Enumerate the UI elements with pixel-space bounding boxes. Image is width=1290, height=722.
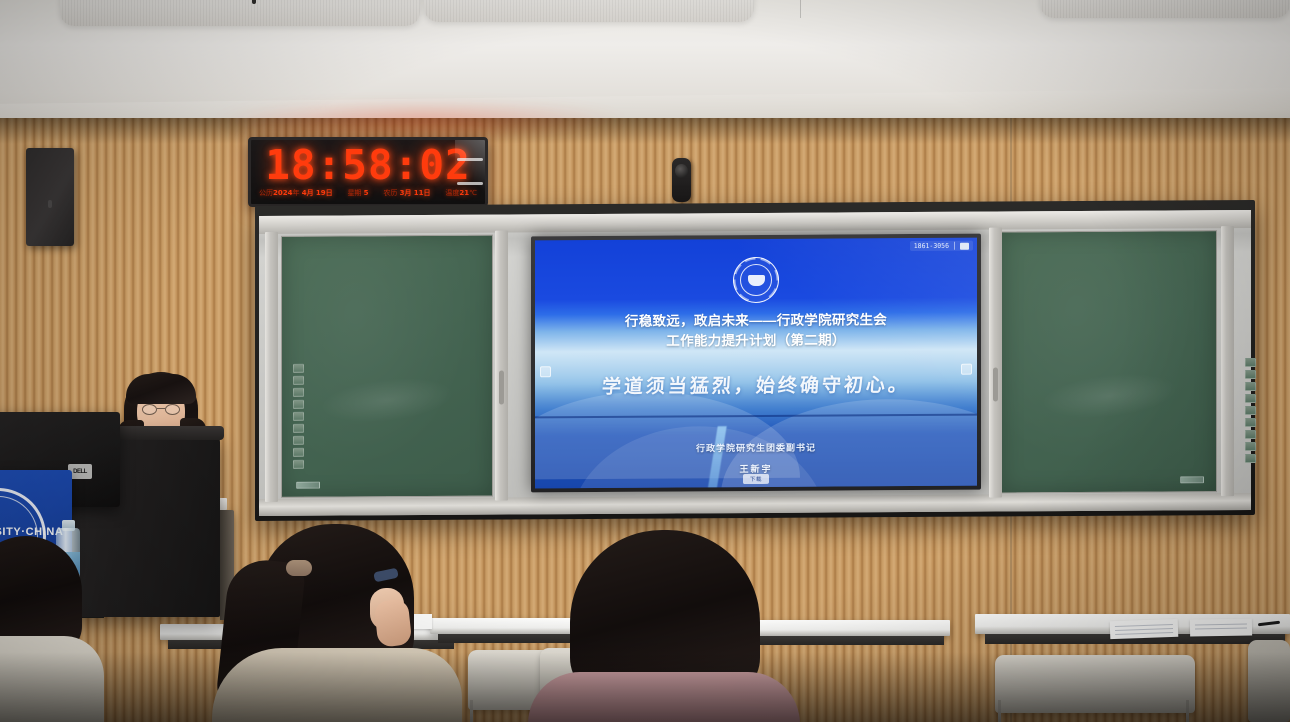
clock-reflection-bar <box>457 182 483 185</box>
board-tag <box>1180 476 1204 483</box>
control-icon-down[interactable] <box>293 436 304 445</box>
speaker-led <box>48 200 52 208</box>
control-icon-menu[interactable] <box>1245 370 1256 379</box>
control-icon-play[interactable] <box>1245 406 1256 415</box>
control-icon-back[interactable] <box>293 448 304 457</box>
board-control-strip-left[interactable] <box>293 364 304 469</box>
audience-hand <box>374 598 413 647</box>
control-icon-play[interactable] <box>293 412 304 421</box>
ac-grille <box>60 0 420 26</box>
chalk-smudge <box>318 372 456 428</box>
wall-top-shadow <box>0 118 1290 144</box>
clock-glow <box>210 100 630 140</box>
logo-inner-emblem <box>740 264 772 296</box>
rail-handle[interactable] <box>499 371 504 405</box>
control-icon-source[interactable] <box>1245 382 1256 391</box>
control-icon-back[interactable] <box>1245 442 1256 451</box>
control-icon-home[interactable] <box>1245 454 1256 463</box>
control-icon-menu[interactable] <box>293 376 304 385</box>
chair-leg <box>470 700 473 722</box>
projection-screen-bezel: 1861-3056 行稳致远，政启未来——行政学院研究生会 工作能力提升计划（第… <box>531 234 981 493</box>
ceiling-ac-panel <box>60 0 420 26</box>
presenter-hair-top <box>126 374 196 404</box>
board-control-strip-right[interactable] <box>1245 358 1256 463</box>
paper-sheet <box>1190 618 1252 636</box>
glasses-bridge <box>157 408 165 409</box>
rail-handle[interactable] <box>993 368 998 402</box>
classroom-photo: 18:58:02 公历2024年 4月 19日 星期 5 农历 3月 11日 温… <box>0 0 1290 722</box>
slide-download-button[interactable]: 下载 <box>743 474 769 484</box>
glasses-lens-right <box>165 404 180 415</box>
board-slide-rail[interactable] <box>989 227 1002 497</box>
control-icon-down[interactable] <box>1245 430 1256 439</box>
classroom-chair[interactable] <box>995 655 1195 713</box>
chalk-smudge <box>1039 367 1180 423</box>
ac-grille <box>1040 0 1290 18</box>
hair-tie <box>286 560 312 576</box>
chalkboard-left <box>281 235 493 498</box>
glasses-lens-left <box>142 404 157 415</box>
clock-temperature: 温度21℃ <box>445 188 477 198</box>
control-icon-source[interactable] <box>293 388 304 397</box>
led-wall-clock: 18:58:02 公历2024年 4月 19日 星期 5 农历 3月 11日 温… <box>248 137 488 207</box>
ceiling-ac-panel <box>424 0 754 22</box>
monitor-icon <box>960 242 969 249</box>
ac-slot <box>252 0 256 4</box>
control-icon-home[interactable] <box>293 460 304 469</box>
presentation-slide[interactable]: 1861-3056 行稳致远，政启未来——行政学院研究生会 工作能力提升计划（第… <box>535 238 977 489</box>
ac-grille <box>424 0 754 22</box>
paper-sheet <box>1110 619 1179 639</box>
clock-reflection-bar <box>457 158 483 161</box>
control-icon-volume[interactable] <box>293 400 304 409</box>
control-icon-power[interactable] <box>293 364 304 373</box>
wall-camera <box>672 158 691 202</box>
slide-credit-role: 行政学院研究生团委副书记 <box>535 440 977 456</box>
ceiling-ac-panel <box>1040 0 1290 18</box>
screen-status-bar: 1861-3056 <box>910 241 973 251</box>
control-icon-power[interactable] <box>1245 358 1256 367</box>
classroom-chair[interactable] <box>1248 640 1290 722</box>
slide-calligraphy-quote: 学道须当猛烈，始终确守初心。 <box>535 370 977 400</box>
chair-leg <box>1186 700 1189 722</box>
screen-code: 1861-3056 <box>914 242 949 250</box>
ceiling-seam <box>800 0 801 18</box>
control-icon-volume[interactable] <box>1245 394 1256 403</box>
clock-gregorian-date: 公历2024年 4月 19日 <box>259 188 333 198</box>
clock-time: 18:58:02 <box>251 142 485 188</box>
blackboard-assembly: 1861-3056 行稳致远，政启未来——行政学院研究生会 工作能力提升计划（第… <box>255 200 1255 521</box>
slide-title-line1: 行稳致远，政启未来——行政学院研究生会 <box>561 310 951 332</box>
control-icon-up[interactable] <box>1245 418 1256 427</box>
slide-title: 行稳致远，政启未来——行政学院研究生会 工作能力提升计划（第二期） <box>561 310 951 352</box>
clock-date-row: 公历2024年 4月 19日 星期 5 农历 3月 11日 温度21℃ <box>255 185 481 200</box>
board-tag <box>296 482 320 489</box>
glasses-icon <box>142 404 180 415</box>
audience-shoulders <box>0 636 104 722</box>
clock-weekday: 星期 5 <box>347 188 368 198</box>
control-icon-up[interactable] <box>293 424 304 433</box>
board-slide-rail[interactable] <box>495 231 508 501</box>
slide-title-line2: 工作能力提升计划（第二期） <box>561 329 951 351</box>
board-slide-rail[interactable] <box>265 232 278 502</box>
chalkboard-right <box>1001 230 1217 493</box>
audience-shoulders <box>528 672 800 722</box>
board-frame: 1861-3056 行稳致远，政启未来——行政学院研究生会 工作能力提升计划（第… <box>259 210 1251 516</box>
audience-shoulders <box>212 648 462 722</box>
jilin-university-logo-icon <box>733 257 779 303</box>
wall-speaker <box>26 148 74 246</box>
camera-lens-icon <box>675 164 688 178</box>
divider <box>954 242 955 250</box>
clock-lunar-date: 农历 3月 11日 <box>383 188 430 198</box>
slide-credit: 行政学院研究生团委副书记 王新宇 <box>535 440 977 477</box>
board-slide-rail[interactable] <box>1221 226 1234 496</box>
chair-leg <box>998 700 1001 722</box>
